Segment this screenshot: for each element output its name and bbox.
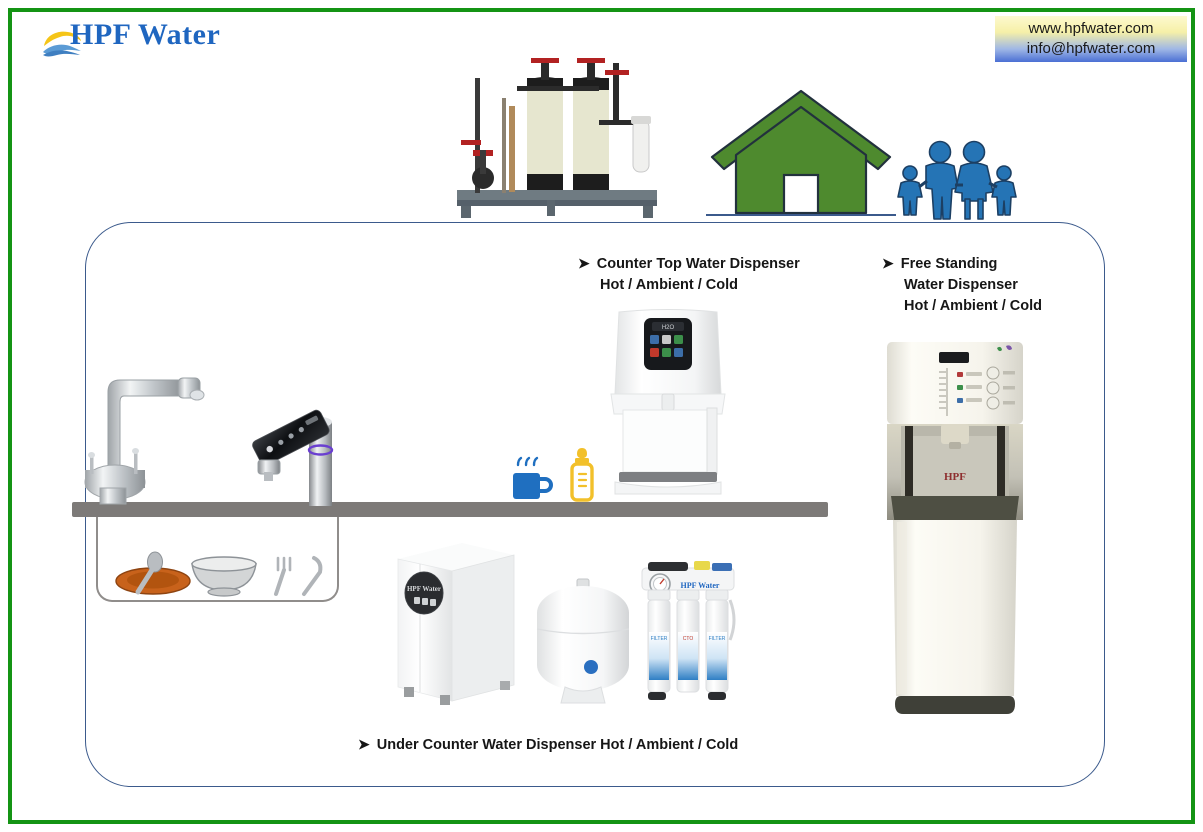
email-text[interactable]: info@hpfwater.com — [1027, 39, 1156, 59]
svg-text:CTO: CTO — [683, 636, 694, 642]
bowl-icon — [192, 557, 256, 596]
website-text[interactable]: www.hpfwater.com — [1028, 19, 1153, 39]
bullet-arrow-icon: ➤ — [882, 255, 894, 271]
counter-top-dispenser-image: H2O — [605, 308, 731, 500]
family-icon — [893, 135, 1021, 220]
bullet-arrow-icon: ➤ — [578, 255, 590, 271]
label-free-standing: ➤Free Standing Water Dispenser Hot / Amb… — [882, 253, 1082, 317]
fork-icon — [276, 558, 290, 594]
water-treatment-plant-image — [447, 58, 672, 223]
label-counter-top: ➤Counter Top Water Dispenser Hot / Ambie… — [578, 253, 868, 296]
three-way-faucet-image — [78, 362, 218, 507]
free-standing-dispenser-image: HPF — [883, 340, 1027, 720]
label-free-standing-line2: Water Dispenser — [904, 277, 1018, 293]
knife-icon — [304, 558, 320, 594]
contact-box: www.hpfwater.com info@hpfwater.com — [995, 16, 1187, 62]
label-free-standing-line1: Free Standing — [901, 256, 998, 272]
label-counter-top-line1: Counter Top Water Dispenser — [597, 256, 800, 272]
label-counter-top-line2: Hot / Ambient / Cold — [600, 277, 738, 293]
baby-bottle-icon — [567, 447, 597, 502]
hot-coffee-mug-icon — [511, 455, 553, 503]
under-counter-unit-image: HPF Water — [392, 535, 520, 710]
svg-text:FILTER: FILTER — [651, 636, 668, 642]
poster-canvas: HPF Water www.hpfwater.com info@hpfwater… — [0, 0, 1203, 832]
svg-text:HPF: HPF — [944, 471, 966, 483]
label-under-counter-line1: Under Counter Water Dispenser Hot / Ambi… — [377, 737, 738, 753]
brand-logo: HPF Water — [22, 18, 252, 62]
svg-text:HPF Water: HPF Water — [407, 585, 441, 593]
dishes-group — [108, 548, 330, 598]
svg-text:H2O: H2O — [662, 325, 675, 331]
svg-text:FILTER: FILTER — [709, 636, 726, 642]
house-icon — [706, 85, 896, 220]
ro-pressure-tank-image — [535, 577, 633, 707]
ro-filter-system-image: HPF Water FILTER CTO FILTER — [638, 560, 738, 708]
bullet-arrow-icon: ➤ — [358, 736, 370, 752]
label-under-counter: ➤Under Counter Water Dispenser Hot / Amb… — [358, 734, 828, 756]
digital-tap-image — [252, 388, 347, 506]
svg-text:HPF Water: HPF Water — [681, 581, 720, 590]
label-free-standing-line3: Hot / Ambient / Cold — [904, 298, 1042, 314]
logo-text: HPF Water — [70, 18, 220, 52]
